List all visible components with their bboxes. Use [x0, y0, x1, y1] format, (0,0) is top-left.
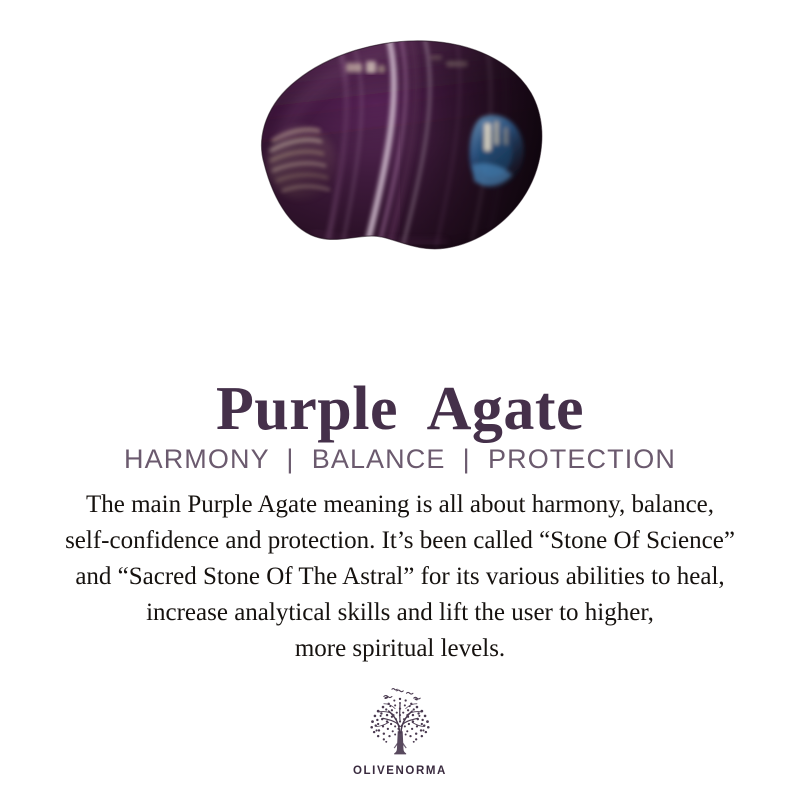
description-line: and “Sacred Stone Of The Astral” for its… [0, 559, 800, 595]
brand-logo: OLIVENORMA [0, 686, 800, 777]
description-line: increase analytical skills and lift the … [0, 595, 800, 631]
tree-of-life-icon [359, 686, 441, 762]
description-line: self-confidence and protection. It’s bee… [0, 523, 800, 559]
description-line: The main Purple Agate meaning is all abo… [0, 487, 800, 523]
infographic-page: Purple Agate HARMONY | BALANCE | PROTECT… [0, 0, 800, 800]
keyword-subtitle: HARMONY | BALANCE | PROTECTION [0, 443, 800, 475]
description-line: more spiritual levels. [0, 631, 800, 667]
stone-image-container [0, 0, 800, 300]
description-paragraph: The main Purple Agate meaning is all abo… [0, 487, 800, 667]
page-title: Purple Agate [0, 378, 800, 440]
brand-name: OLIVENORMA [353, 765, 447, 777]
purple-agate-stone-photo [250, 35, 550, 265]
